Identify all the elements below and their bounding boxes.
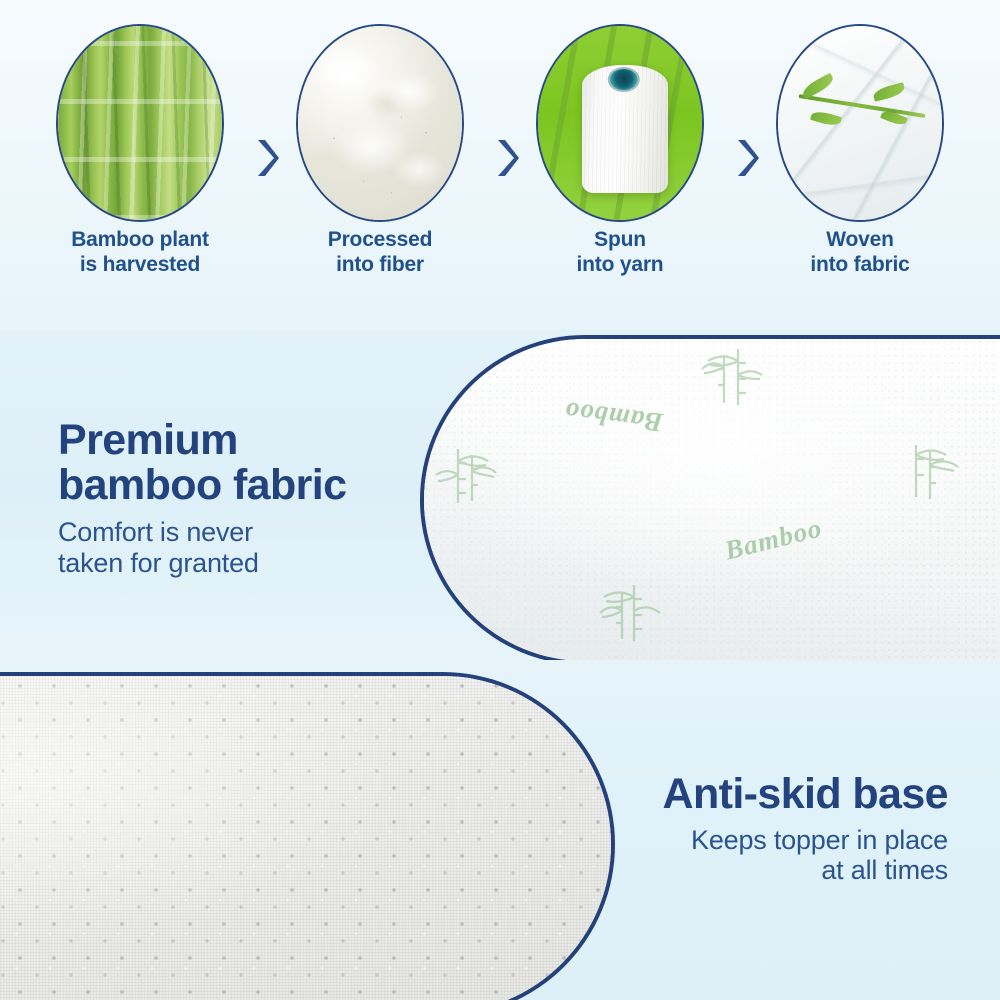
bamboo-plant-photo (56, 24, 224, 222)
bamboo-fiber-photo (296, 24, 464, 222)
process-step-3 (522, 18, 718, 233)
subtitle-line: Comfort is never (58, 517, 408, 548)
heading-line: bamboo fabric (58, 463, 408, 508)
premium-fabric-section: Bamboo Bamboo (0, 330, 1000, 660)
process-step-1 (42, 18, 238, 233)
subtitle-line: Keeps topper in place (528, 825, 948, 856)
chevron-right-icon (253, 137, 279, 179)
woven-fabric-photo (776, 24, 944, 222)
caption-line: is harvested (42, 253, 238, 278)
subtitle-line: at all times (528, 855, 948, 886)
process-step-4 (762, 18, 958, 233)
product-infographic: Bamboo plant is harvested Processed into… (0, 0, 1000, 1000)
bamboo-stalk-icon (894, 439, 968, 503)
bamboo-knit-fabric-closeup: Bamboo Bamboo (420, 335, 1000, 660)
process-steps-row (0, 18, 1000, 233)
caption-line: Spun (522, 228, 718, 253)
yarn-spool-photo (536, 24, 704, 222)
caption-line: into fabric (762, 253, 958, 278)
anti-skid-copy: Anti-skid base Keeps topper in place at … (528, 772, 948, 886)
process-flow-section: Bamboo plant is harvested Processed into… (0, 0, 1000, 330)
bamboo-stalk-icon (694, 345, 768, 409)
caption-line: Bamboo plant (42, 228, 238, 253)
bamboo-stalk-icon (594, 581, 668, 645)
process-step-1-caption: Bamboo plant is harvested (42, 228, 238, 277)
premium-fabric-heading: Premium bamboo fabric (58, 418, 408, 507)
bamboo-stalk-icon (432, 443, 506, 507)
anti-skid-subtitle: Keeps topper in place at all times (528, 825, 948, 887)
caption-line: into fiber (282, 253, 478, 278)
anti-skid-dotted-base-closeup (0, 672, 615, 1000)
chevron-right-icon (733, 137, 759, 179)
anti-skid-heading: Anti-skid base (528, 772, 948, 817)
premium-fabric-copy: Premium bamboo fabric Comfort is never t… (58, 418, 408, 579)
caption-line: Processed (282, 228, 478, 253)
process-step-2 (282, 18, 478, 233)
chevron-right-icon (493, 137, 519, 179)
caption-line: Woven (762, 228, 958, 253)
premium-fabric-subtitle: Comfort is never taken for granted (58, 517, 408, 579)
caption-line: into yarn (522, 253, 718, 278)
process-step-4-caption: Woven into fabric (762, 228, 958, 277)
subtitle-line: taken for granted (58, 548, 408, 579)
process-step-2-caption: Processed into fiber (282, 228, 478, 277)
process-step-3-caption: Spun into yarn (522, 228, 718, 277)
heading-line: Premium (58, 418, 408, 463)
anti-skid-section: Anti-skid base Keeps topper in place at … (0, 660, 1000, 1000)
